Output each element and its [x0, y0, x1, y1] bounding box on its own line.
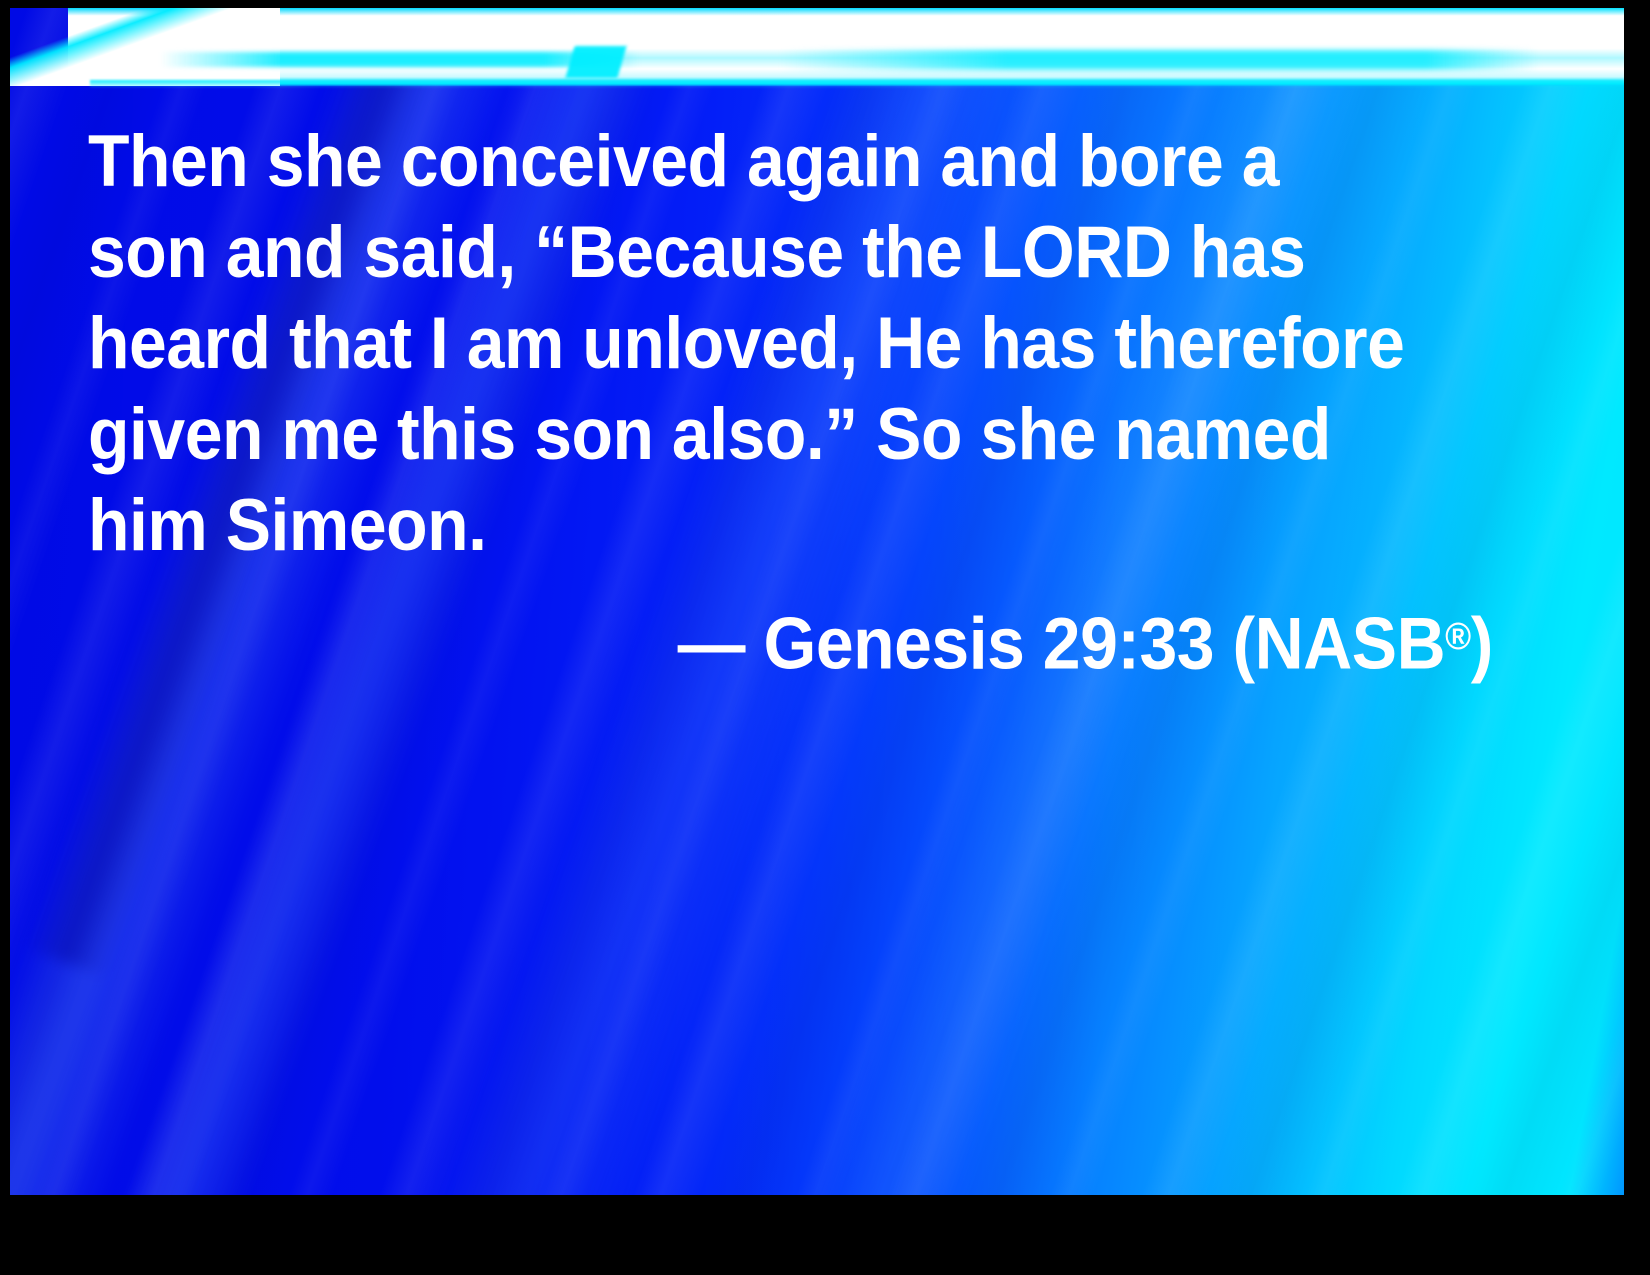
attribution-suffix: ): [1471, 604, 1493, 685]
verse-attribution: — Genesis 29:33 (NASB®): [187, 593, 1504, 689]
attribution-prefix: — Genesis 29:33 (NASB: [678, 604, 1445, 685]
registered-trademark-icon: ®: [1445, 616, 1471, 658]
verse-slide: Then she conceived again and bore a son …: [0, 0, 1650, 1275]
verse-text-block: Then she conceived again and bore a son …: [88, 116, 1504, 689]
verse-body: Then she conceived again and bore a son …: [88, 116, 1405, 571]
gradient-panel: Then she conceived again and bore a son …: [10, 8, 1624, 1195]
